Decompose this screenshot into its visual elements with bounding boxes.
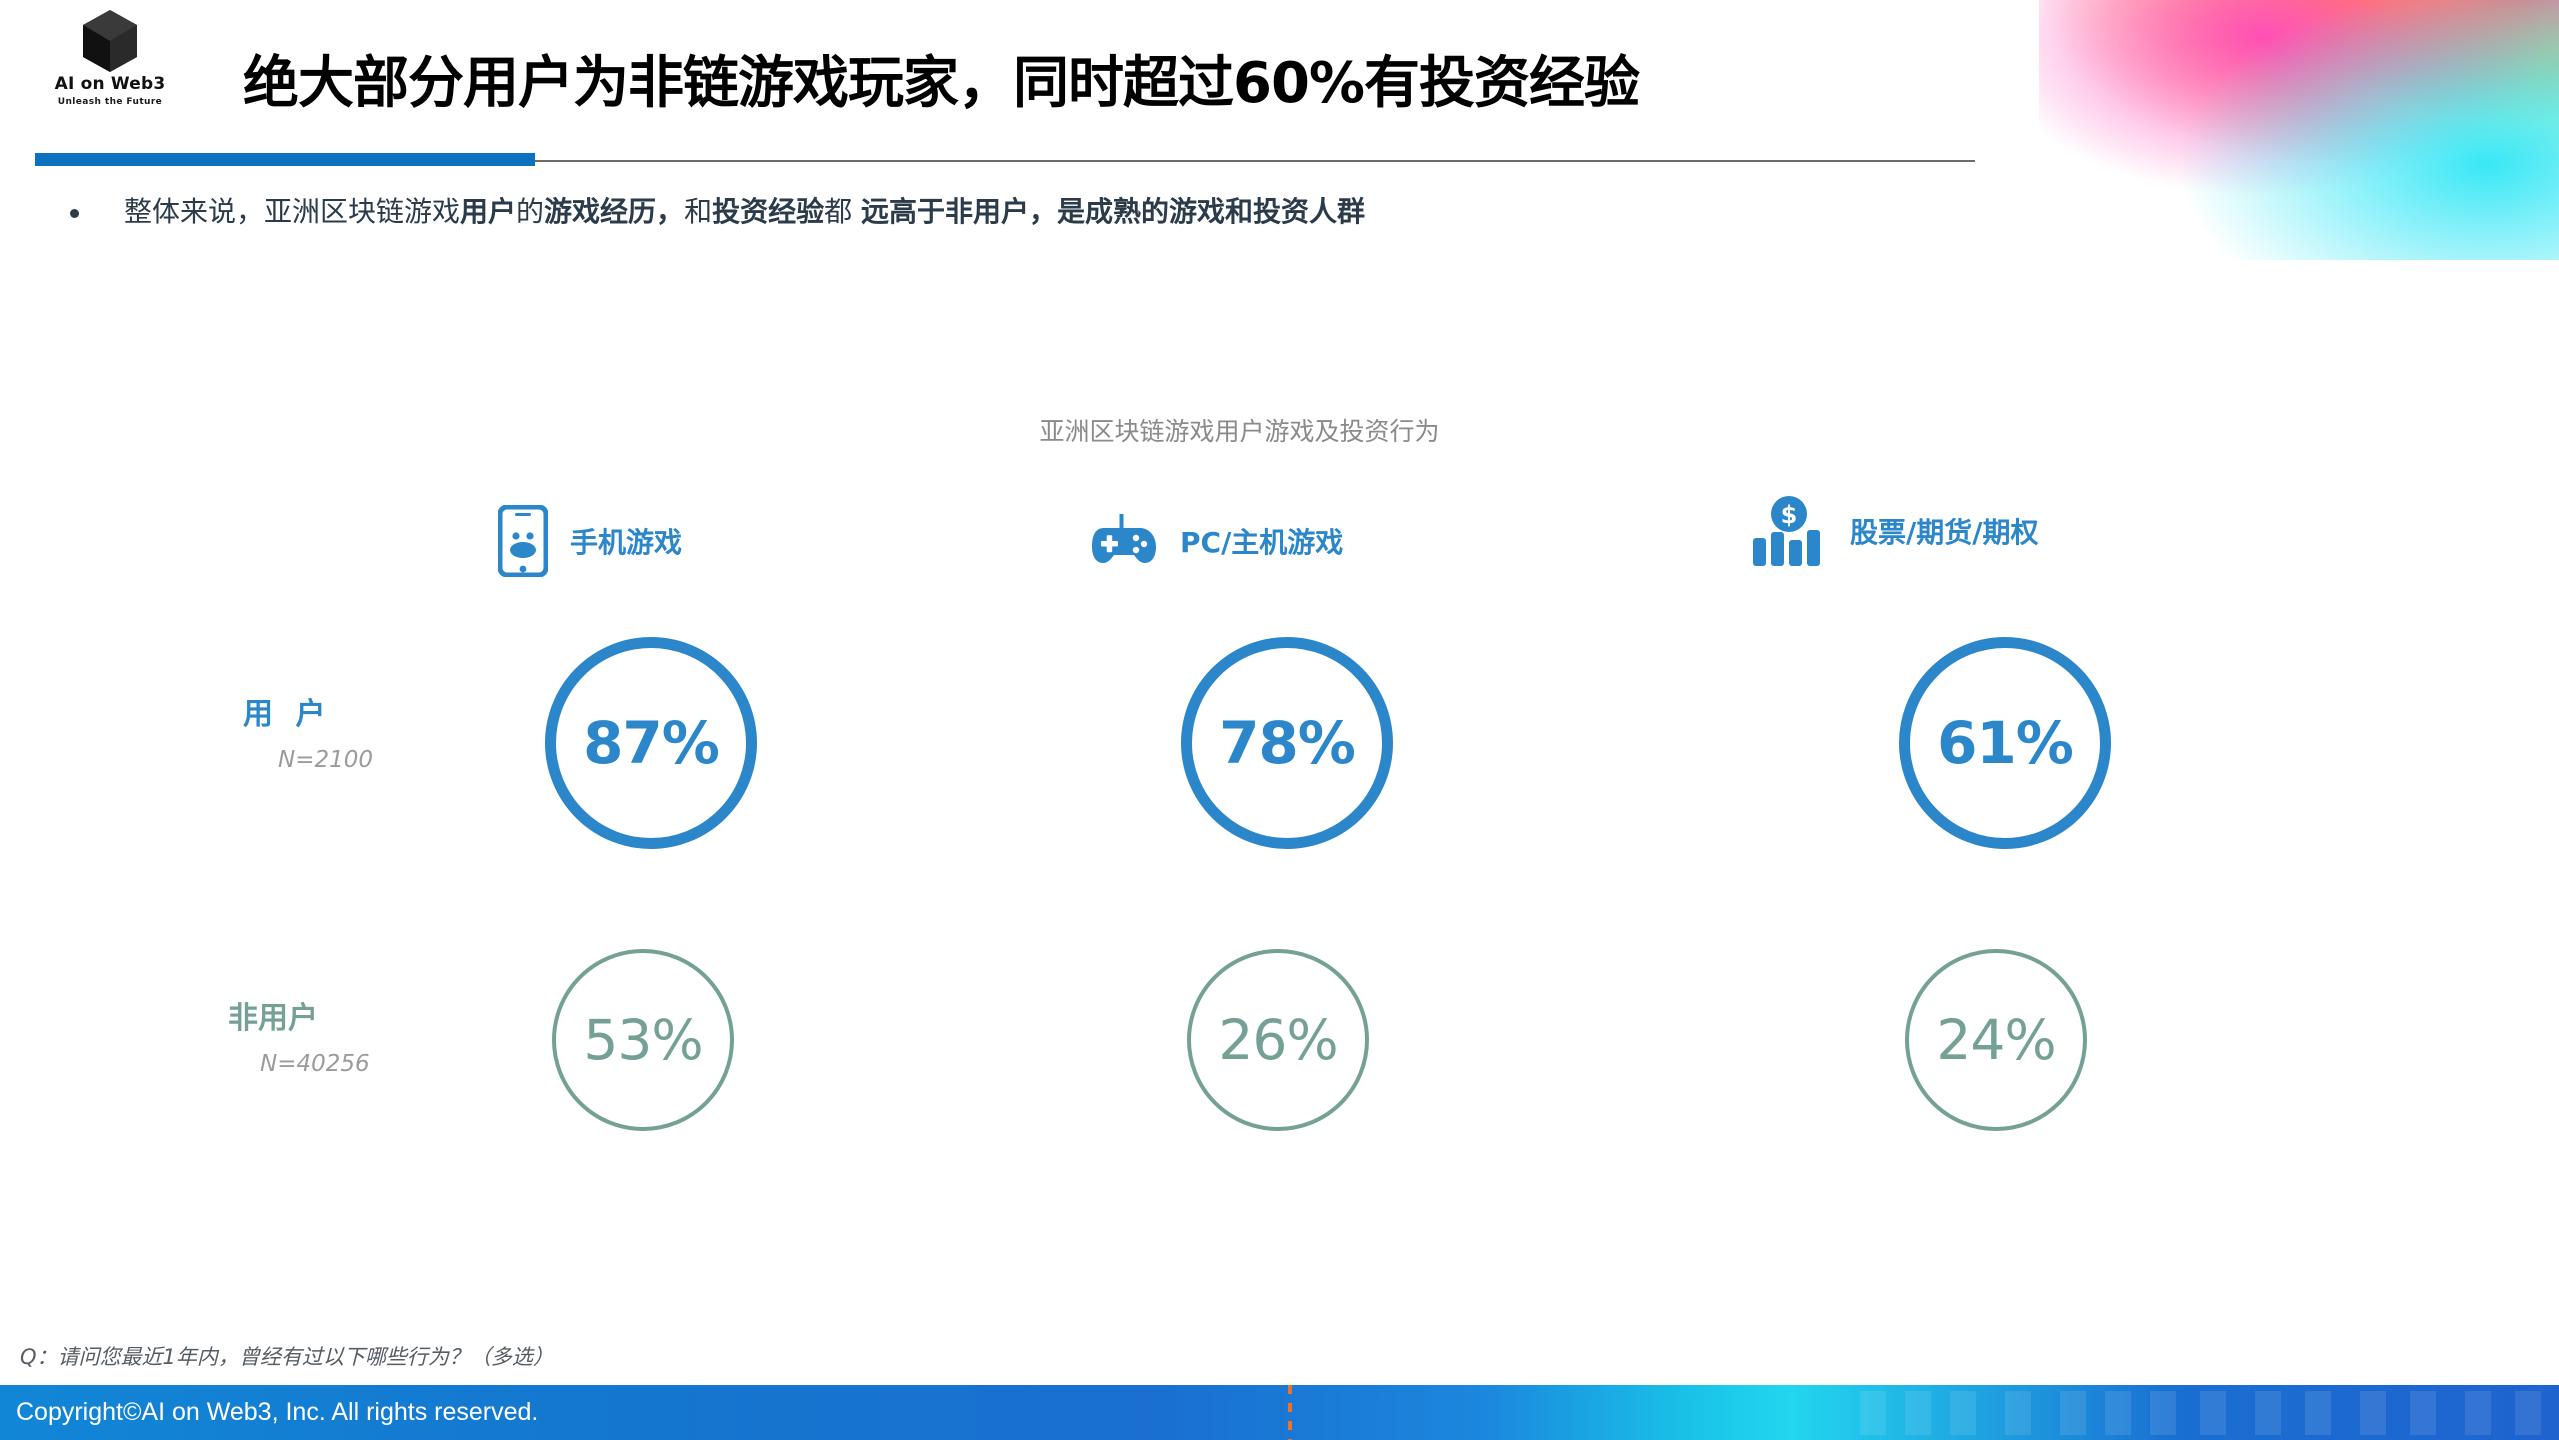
footer-bar-stripe bbox=[2150, 1391, 2176, 1435]
metric-bubble-nonuser-pc: 26% bbox=[1187, 949, 1369, 1131]
row-sample-size: N=40256 bbox=[260, 1051, 370, 1077]
column-header-label: 股票/期货/期权 bbox=[1850, 511, 2038, 551]
column-header-pc-console-game: PC/主机游戏 bbox=[1086, 512, 1343, 570]
slide: AI on Web3 Unleash the Future 绝大部分用户为非链游… bbox=[0, 0, 2559, 1440]
metric-bubble-user-mobile: 87% bbox=[545, 637, 757, 849]
svg-text:$: $ bbox=[1781, 501, 1798, 529]
column-header-label: PC/主机游戏 bbox=[1180, 521, 1343, 561]
footer-bar-stripe bbox=[2360, 1391, 2386, 1435]
metric-value: 87% bbox=[583, 714, 719, 772]
footer-bar-stripe bbox=[2465, 1391, 2491, 1435]
metric-value: 78% bbox=[1219, 714, 1355, 772]
footer-bar-stripe bbox=[1950, 1391, 1976, 1435]
mobile-phone-game-icon bbox=[498, 505, 548, 577]
footer-bar-stripe bbox=[2255, 1391, 2281, 1435]
footer-dashed-divider bbox=[1288, 1385, 1292, 1440]
metric-bubble-user-stock: 61% bbox=[1899, 637, 2111, 849]
metric-value: 53% bbox=[583, 1013, 702, 1068]
row-label-nonuser: 非用户 N=40256 bbox=[228, 1004, 370, 1077]
metric-bubble-nonuser-stock: 24% bbox=[1905, 949, 2087, 1131]
metric-bubble-nonuser-mobile: 53% bbox=[552, 949, 734, 1131]
row-label-user: 用 户 N=2100 bbox=[243, 700, 373, 773]
footer-bar-stripe bbox=[2105, 1391, 2131, 1435]
column-header-mobile-game: 手机游戏 bbox=[498, 505, 682, 577]
gamepad-icon bbox=[1086, 512, 1158, 570]
survey-question-note: Q：请问您最近1年内，曾经有过以下哪些行为？（多选） bbox=[20, 1341, 554, 1371]
column-header-label: 手机游戏 bbox=[570, 521, 682, 561]
copyright-text: Copyright©AI on Web3, Inc. All rights re… bbox=[16, 1398, 538, 1427]
row-label-name: 非用户 bbox=[228, 1004, 370, 1034]
footer-bar-stripe bbox=[2060, 1391, 2086, 1435]
footer-bar-stripe bbox=[2410, 1391, 2436, 1435]
column-header-stock-futures-options: $ 股票/期货/期权 bbox=[1750, 492, 2038, 570]
footer-bar: Copyright©AI on Web3, Inc. All rights re… bbox=[0, 1385, 2559, 1440]
footer-bar-stripe bbox=[1905, 1391, 1931, 1435]
stock-chart-dollar-icon: $ bbox=[1750, 492, 1828, 570]
footer-bar-stripe bbox=[2005, 1391, 2031, 1435]
chart-area: 手机游戏 PC/主机游戏 $ 股票/期货/期 bbox=[0, 0, 2559, 1440]
footer-bar-stripe bbox=[2200, 1391, 2226, 1435]
footer-bar-stripe bbox=[1860, 1391, 1886, 1435]
footer-bar-stripe bbox=[2305, 1391, 2331, 1435]
metric-bubble-user-pc: 78% bbox=[1181, 637, 1393, 849]
metric-value: 26% bbox=[1218, 1013, 1337, 1068]
row-sample-size: N=2100 bbox=[278, 747, 373, 773]
row-label-name: 用 户 bbox=[243, 700, 373, 730]
metric-value: 24% bbox=[1936, 1013, 2055, 1068]
metric-value: 61% bbox=[1937, 714, 2073, 772]
footer-bar-stripe bbox=[2515, 1391, 2541, 1435]
